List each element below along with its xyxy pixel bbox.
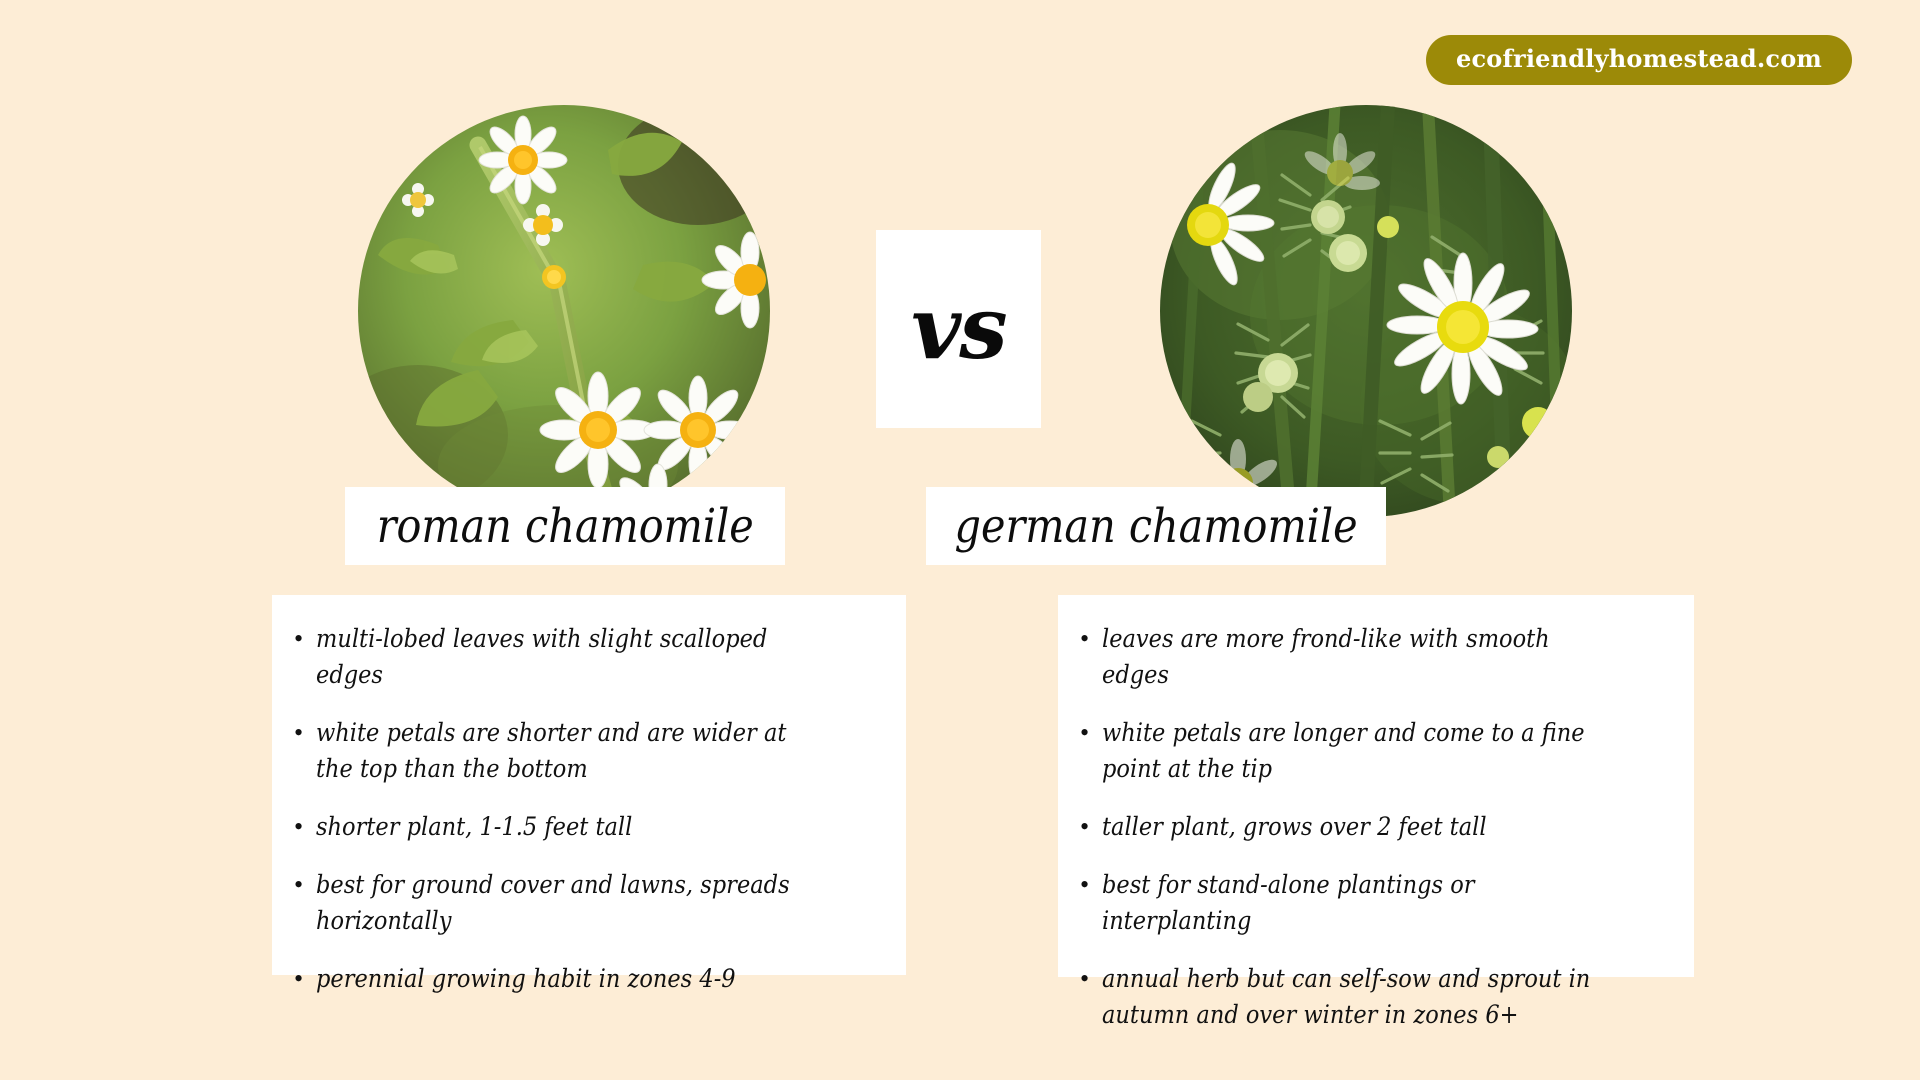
roman-chamomile-facts-panel: • multi-lobed leaves with slight scallop… <box>272 595 906 975</box>
fact-text: white petals are shorter and are wider a… <box>316 715 829 787</box>
list-item: • white petals are shorter and are wider… <box>294 715 886 787</box>
list-item: • leaves are more frond-like with smooth… <box>1080 621 1674 693</box>
fact-text: annual herb but can self-sow and sprout … <box>1102 961 1617 1033</box>
german-chamomile-fact-list: • leaves are more frond-like with smooth… <box>1080 621 1674 1033</box>
fact-text: best for ground cover and lawns, spreads… <box>316 867 829 939</box>
versus-label: vs <box>911 286 1005 372</box>
german-chamomile-title-plate: german chamomile <box>926 487 1386 565</box>
fact-text: multi-lobed leaves with slight scalloped… <box>316 621 829 693</box>
list-item: • best for stand-alone plantings or inte… <box>1080 867 1674 939</box>
german-chamomile-photo <box>1160 105 1572 517</box>
german-chamomile-title: german chamomile <box>954 503 1357 550</box>
bullet-icon: • <box>294 809 316 845</box>
list-item: • white petals are longer and come to a … <box>1080 715 1674 787</box>
bullet-icon: • <box>294 621 316 657</box>
german-chamomile-facts-panel: • leaves are more frond-like with smooth… <box>1058 595 1694 977</box>
german-chamomile-illustration <box>1160 105 1572 517</box>
bullet-icon: • <box>1080 621 1102 657</box>
bullet-icon: • <box>294 961 316 997</box>
list-item: • perennial growing habit in zones 4-9 <box>294 961 886 997</box>
roman-chamomile-title: roman chamomile <box>376 503 753 550</box>
list-item: • taller plant, grows over 2 feet tall <box>1080 809 1674 845</box>
fact-text: taller plant, grows over 2 feet tall <box>1102 809 1617 845</box>
list-item: • best for ground cover and lawns, sprea… <box>294 867 886 939</box>
bullet-icon: • <box>294 867 316 903</box>
list-item: • multi-lobed leaves with slight scallop… <box>294 621 886 693</box>
list-item: • annual herb but can self-sow and sprou… <box>1080 961 1674 1033</box>
list-item: • shorter plant, 1-1.5 feet tall <box>294 809 886 845</box>
fact-text: leaves are more frond-like with smooth e… <box>1102 621 1617 693</box>
fact-text: white petals are longer and come to a fi… <box>1102 715 1617 787</box>
fact-text: shorter plant, 1-1.5 feet tall <box>316 809 829 845</box>
fact-text: perennial growing habit in zones 4-9 <box>316 961 829 997</box>
fact-text: best for stand-alone plantings or interp… <box>1102 867 1617 939</box>
versus-divider: vs <box>876 230 1041 428</box>
site-badge-label: ecofriendlyhomestead.com <box>1456 44 1822 73</box>
roman-chamomile-photo <box>358 105 770 517</box>
roman-chamomile-title-plate: roman chamomile <box>345 487 785 565</box>
bullet-icon: • <box>294 715 316 751</box>
site-badge[interactable]: ecofriendlyhomestead.com <box>1426 35 1852 85</box>
bullet-icon: • <box>1080 961 1102 997</box>
bullet-icon: • <box>1080 809 1102 845</box>
bullet-icon: • <box>1080 715 1102 751</box>
roman-chamomile-illustration <box>358 105 770 517</box>
bullet-icon: • <box>1080 867 1102 903</box>
roman-chamomile-fact-list: • multi-lobed leaves with slight scallop… <box>294 621 886 997</box>
